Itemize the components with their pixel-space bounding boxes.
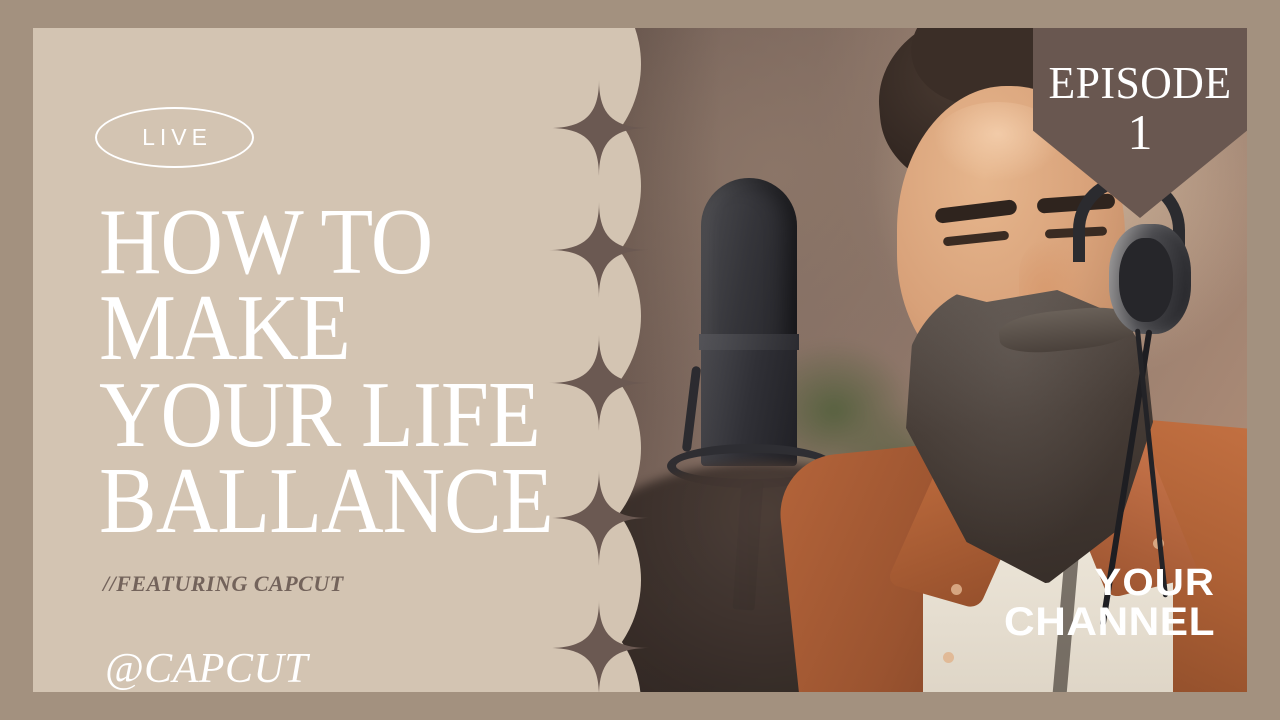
- live-badge[interactable]: LIVE: [95, 107, 254, 168]
- featuring-label: //FEATURING CAPCUT: [103, 571, 344, 597]
- headline-line-1: HOW TO: [99, 199, 531, 285]
- headline-line-3: YOUR LIFE: [99, 372, 531, 458]
- jacket-button: [943, 652, 954, 663]
- channel-lockup: YOUR CHANNEL: [1016, 565, 1215, 642]
- social-handle: @CAPCUT: [105, 645, 308, 692]
- headline-line-2: MAKE: [99, 285, 531, 371]
- channel-line-2: CHANNEL: [1004, 602, 1215, 642]
- shock-mount-arm: [682, 366, 701, 452]
- headphone-pad: [1119, 238, 1173, 322]
- live-badge-label: LIVE: [137, 124, 212, 151]
- thumbnail-canvas: LIVE HOW TO MAKE YOUR LIFE BALLANCE //FE…: [0, 0, 1280, 720]
- mic-band: [699, 334, 799, 350]
- channel-line-1: YOUR: [1004, 565, 1215, 602]
- episode-label: EPISODE: [1038, 60, 1241, 106]
- jacket-button: [951, 584, 962, 595]
- page-title: HOW TO MAKE YOUR LIFE BALLANCE: [99, 199, 569, 545]
- episode-number: 1: [1033, 106, 1247, 159]
- headline-line-4: BALLANCE: [99, 458, 531, 544]
- content-card: LIVE HOW TO MAKE YOUR LIFE BALLANCE //FE…: [33, 28, 1247, 692]
